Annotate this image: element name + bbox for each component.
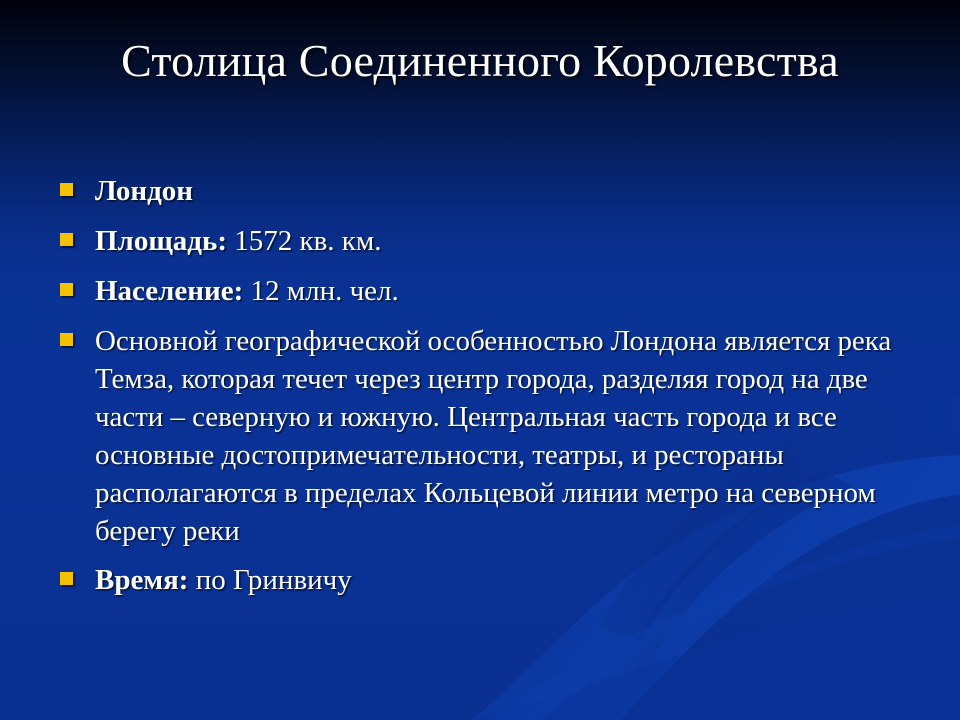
square-bullet-icon bbox=[60, 233, 73, 246]
swoosh-sweep-lower bbox=[455, 598, 960, 720]
list-item-text: Лондон bbox=[95, 172, 928, 210]
square-bullet-icon bbox=[60, 572, 73, 585]
square-bullet-icon bbox=[60, 333, 73, 346]
list-item: Время: по Гринвичу bbox=[52, 561, 928, 599]
list-item-text: Основной географической особенностью Лон… bbox=[95, 322, 928, 550]
list-item-text: Время: по Гринвичу bbox=[95, 561, 928, 599]
list-item-label: Население: bbox=[95, 275, 243, 307]
list-item: Лондон bbox=[52, 172, 928, 210]
slide-title: Столица Соединенного Королевства bbox=[0, 33, 960, 89]
list-item-value: по Гринвичу bbox=[188, 564, 351, 596]
list-item-value: Основной географической особенностью Лон… bbox=[95, 325, 891, 547]
presentation-slide: Столица Соединенного Королевства Лондон … bbox=[0, 0, 960, 720]
list-item-text: Площадь: 1572 кв. км. bbox=[95, 222, 928, 260]
square-bullet-icon bbox=[60, 283, 73, 296]
list-item: Население: 12 млн. чел. bbox=[52, 272, 928, 310]
bullet-list: Лондон Площадь: 1572 кв. км. Население: … bbox=[52, 172, 928, 611]
list-item: Основной географической особенностью Лон… bbox=[52, 322, 928, 550]
list-item-value: 12 млн. чел. bbox=[243, 275, 399, 307]
square-bullet-icon bbox=[60, 183, 73, 196]
list-item-label: Площадь: bbox=[95, 225, 227, 257]
list-item: Площадь: 1572 кв. км. bbox=[52, 222, 928, 260]
list-item-text: Население: 12 млн. чел. bbox=[95, 272, 928, 310]
list-item-label: Лондон bbox=[95, 175, 193, 207]
list-item-value: 1572 кв. км. bbox=[227, 225, 381, 257]
list-item-label: Время: bbox=[95, 564, 188, 596]
